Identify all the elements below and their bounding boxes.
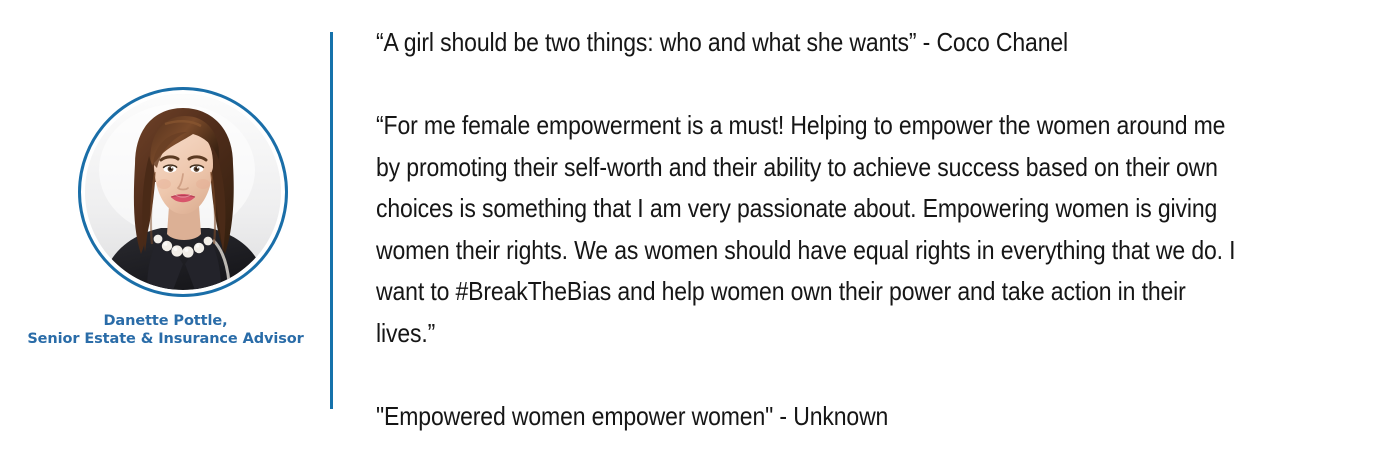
profile-title: Senior Estate & Insurance Advisor [0,330,331,348]
profile-name: Danette Pottle, [0,312,331,330]
quote-danette-pottle: “For me female empowerment is a must! He… [376,105,1239,354]
quotes-column: “A girl should be two things: who and wh… [376,22,1239,437]
quote-coco-chanel: “A girl should be two things: who and wh… [376,22,1239,64]
profile-caption: Danette Pottle, Senior Estate & Insuranc… [0,312,331,348]
portrait-photo-icon [85,94,281,290]
profile-panel: Danette Pottle, Senior Estate & Insuranc… [0,0,331,464]
avatar-photo [85,94,281,290]
vertical-divider [330,32,333,409]
avatar [78,87,288,297]
quote-unknown: "Empowered women empower women" - Unknow… [376,396,1239,438]
testimonial-card: Danette Pottle, Senior Estate & Insuranc… [0,0,1400,464]
